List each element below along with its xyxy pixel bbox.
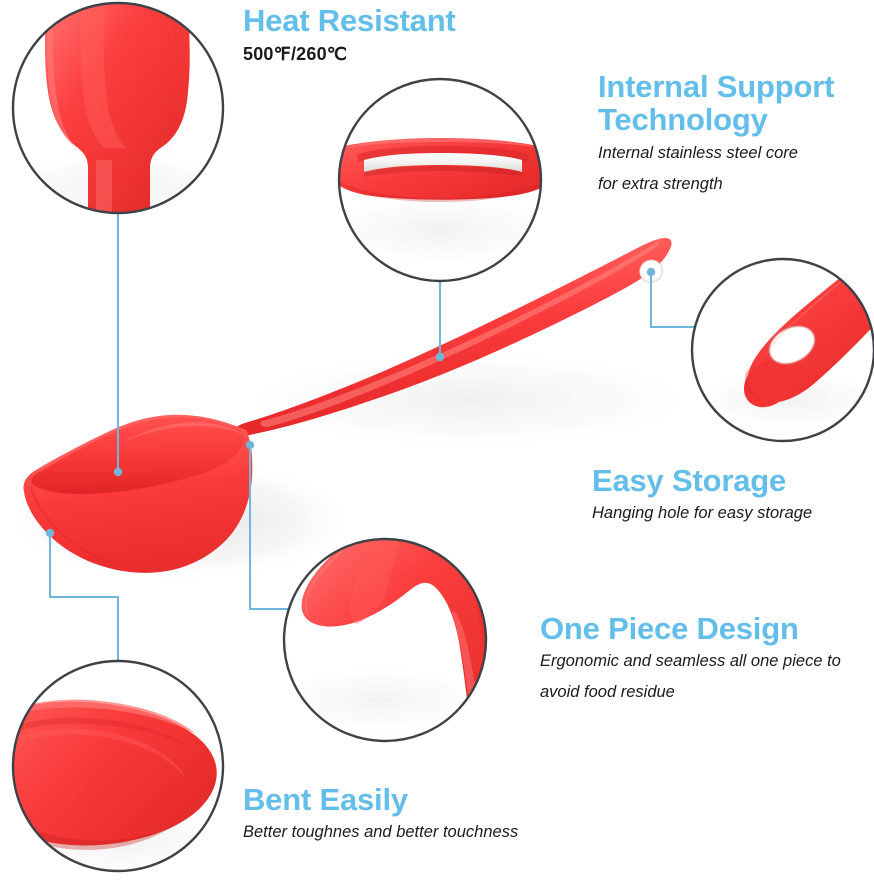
feature-one-piece-design: One Piece Design Ergonomic and seamless … (540, 612, 841, 707)
feature-title-heat-resistant: Heat Resistant (243, 4, 456, 37)
connector-dot-bent-easily (46, 529, 54, 537)
feature-title-easy-storage: Easy Storage (592, 464, 812, 497)
feature-title-internal-support-line2: Technology (598, 103, 874, 136)
feature-heat-resistant: Heat Resistant 500℉/260℃ (243, 4, 456, 71)
feature-title-one-piece-design: One Piece Design (540, 612, 841, 645)
product-shadow-handle (240, 352, 700, 448)
feature-subtitle-bent-easily: Better toughnes and better touchness (243, 818, 518, 847)
feature-subtitle-one-piece-design-line1: Ergonomic and seamless all one piece to (540, 647, 841, 676)
connector-dot-heat-resistant (114, 468, 122, 476)
feature-title-internal-support-line1: Internal Support (598, 70, 874, 103)
feature-subtitle-one-piece-design-line2: avoid food residue (540, 678, 841, 707)
feature-subtitle-heat-resistant: 500℉/260℃ (243, 39, 456, 71)
feature-easy-storage: Easy Storage Hanging hole for easy stora… (592, 464, 812, 528)
feature-bent-easily: Bent Easily Better toughnes and better t… (243, 783, 518, 847)
feature-subtitle-internal-support-line1: Internal stainless steel core (598, 139, 874, 168)
feature-subtitle-easy-storage: Hanging hole for easy storage (592, 499, 812, 528)
feature-title-bent-easily: Bent Easily (243, 783, 518, 816)
connector-dot-easy-storage (647, 268, 655, 276)
feature-internal-support: Internal Support Technology Internal sta… (598, 70, 874, 199)
feature-subtitle-internal-support-line2: for extra strength (598, 170, 874, 199)
connector-dot-internal-support (436, 353, 444, 361)
connector-dot-one-piece (246, 441, 254, 449)
